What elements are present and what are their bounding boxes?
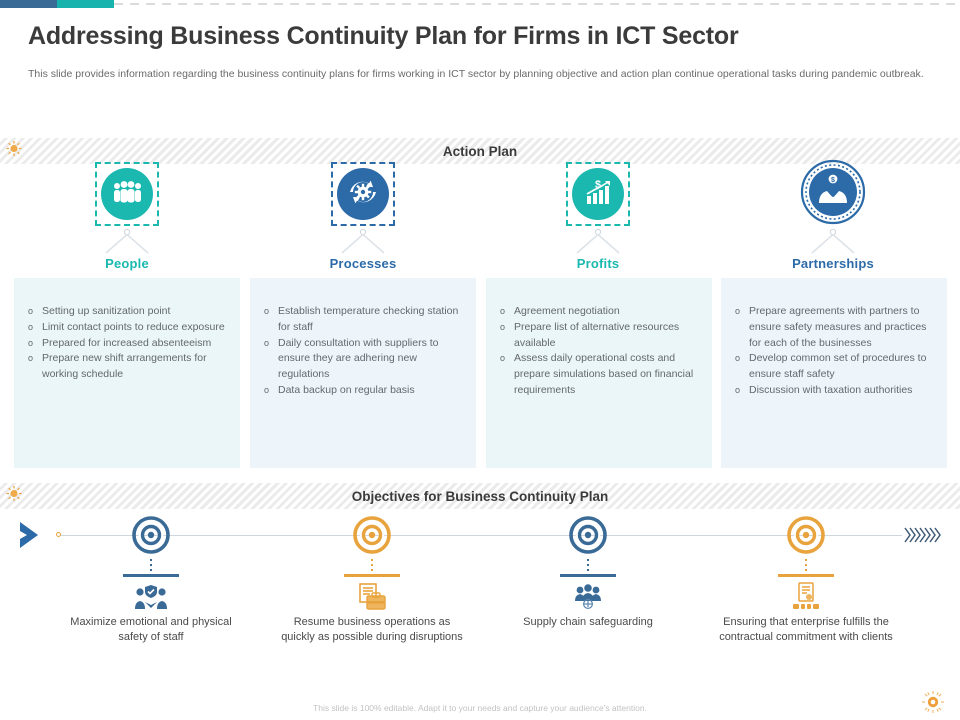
list-item: Agreement negotiation — [500, 304, 702, 320]
bullseye-target-icon — [277, 513, 467, 557]
list-item: Data backup on regular basis — [264, 383, 466, 399]
action-plan-column-people[interactable]: People — [9, 160, 245, 271]
footer-note: This slide is 100% editable. Adapt it to… — [0, 703, 960, 713]
action-plan-label-processes: Processes — [245, 256, 481, 271]
gear-cycle-icon — [346, 175, 380, 214]
easel-stand — [715, 228, 951, 256]
connector-dotted-line — [277, 557, 467, 579]
top-accent-bar — [0, 0, 960, 8]
connector-dotted-line — [56, 557, 246, 579]
people-group-icon — [111, 179, 143, 210]
bullet-list: Establish temperature checking station f… — [264, 304, 466, 399]
objective-node-0[interactable]: Maximize emotional and physical safety o… — [56, 513, 246, 645]
action-plan-band-title: Action Plan — [443, 144, 517, 159]
easel-stand — [245, 228, 481, 256]
sun-icon — [6, 486, 22, 507]
objective-text-0: Maximize emotional and physical safety o… — [56, 615, 246, 645]
page-subtitle: This slide provides information regardin… — [28, 68, 940, 81]
action-plan-cards: Setting up sanitization point Limit cont… — [0, 278, 960, 468]
action-plan-columns: People — [0, 160, 960, 280]
objectives-band-title: Objectives for Business Continuity Plan — [352, 489, 609, 504]
page-title: Addressing Business Continuity Plan for … — [28, 22, 938, 51]
action-plan-column-processes[interactable]: Processes — [245, 160, 481, 271]
profits-icon-frame: $ — [480, 160, 716, 228]
action-plan-card-partnerships: Prepare agreements with partners to ensu… — [721, 278, 947, 468]
chevron-stack-arrow — [903, 524, 947, 551]
partnerships-icon-frame: $ — [715, 160, 951, 228]
contract-document-icon — [711, 579, 901, 615]
bar-chart-dollar-icon: $ — [583, 177, 613, 212]
objective-node-2[interactable]: Supply chain safeguarding — [493, 513, 683, 630]
objective-node-1[interactable]: Resume business operations as quickly as… — [277, 513, 467, 645]
bullseye-target-icon — [711, 513, 901, 557]
supply-chain-people-icon — [493, 579, 683, 615]
list-item: Prepare list of alternative resources av… — [500, 320, 702, 352]
list-item: Discussion with taxation authorities — [735, 383, 937, 399]
accent-segment-dashed — [114, 0, 960, 8]
easel-stand — [480, 228, 716, 256]
sun-gear-icon — [920, 690, 946, 719]
connector-dotted-line — [711, 557, 901, 579]
action-plan-label-profits: Profits — [480, 256, 716, 271]
chevron-right-arrow — [18, 520, 54, 555]
objective-text-1: Resume business operations as quickly as… — [277, 615, 467, 645]
people-icon-frame — [9, 160, 245, 228]
action-plan-card-profits: Agreement negotiation Prepare list of al… — [486, 278, 712, 468]
accent-segment-teal — [57, 0, 114, 8]
objective-node-3[interactable]: Ensuring that enterprise fulfills the co… — [711, 513, 901, 645]
bullseye-target-icon — [493, 513, 683, 557]
sun-icon — [6, 141, 22, 162]
bullet-list: Prepare agreements with partners to ensu… — [735, 304, 937, 399]
action-plan-label-partnerships: Partnerships — [715, 256, 951, 271]
bullet-list: Agreement negotiation Prepare list of al… — [500, 304, 702, 399]
list-item: Establish temperature checking station f… — [264, 304, 466, 336]
objective-text-3: Ensuring that enterprise fulfills the co… — [711, 615, 901, 645]
list-item: Prepare new shift arrangements for worki… — [28, 351, 230, 383]
accent-segment-blue — [0, 0, 57, 8]
easel-stand — [9, 228, 245, 256]
action-plan-label-people: People — [9, 256, 245, 271]
list-item: Prepare agreements with partners to ensu… — [735, 304, 937, 351]
action-plan-card-processes: Establish temperature checking station f… — [250, 278, 476, 468]
slide-root: Addressing Business Continuity Plan for … — [0, 0, 960, 720]
action-plan-card-people: Setting up sanitization point Limit cont… — [14, 278, 240, 468]
processes-icon-frame — [245, 160, 481, 228]
list-item: Develop common set of procedures to ensu… — [735, 351, 937, 383]
list-item: Setting up sanitization point — [28, 304, 230, 320]
objectives-band: Objectives for Business Continuity Plan — [0, 483, 960, 509]
connector-dotted-line — [493, 557, 683, 579]
action-plan-column-profits[interactable]: $ — [480, 160, 716, 271]
bullseye-target-icon — [56, 513, 246, 557]
objective-text-2: Supply chain safeguarding — [493, 615, 683, 630]
handshake-icon: $ — [800, 159, 866, 230]
bullet-list: Setting up sanitization point Limit cont… — [28, 304, 230, 383]
action-plan-column-partnerships[interactable]: $ Partnerships — [715, 160, 951, 271]
list-item: Prepared for increased absenteeism — [28, 336, 230, 352]
svg-text:$: $ — [831, 177, 835, 184]
documents-briefcase-icon — [277, 579, 467, 615]
list-item: Limit contact points to reduce exposure — [28, 320, 230, 336]
list-item: Assess daily operational costs and prepa… — [500, 351, 702, 398]
list-item: Daily consultation with suppliers to ens… — [264, 336, 466, 383]
people-shield-icon — [56, 579, 246, 615]
